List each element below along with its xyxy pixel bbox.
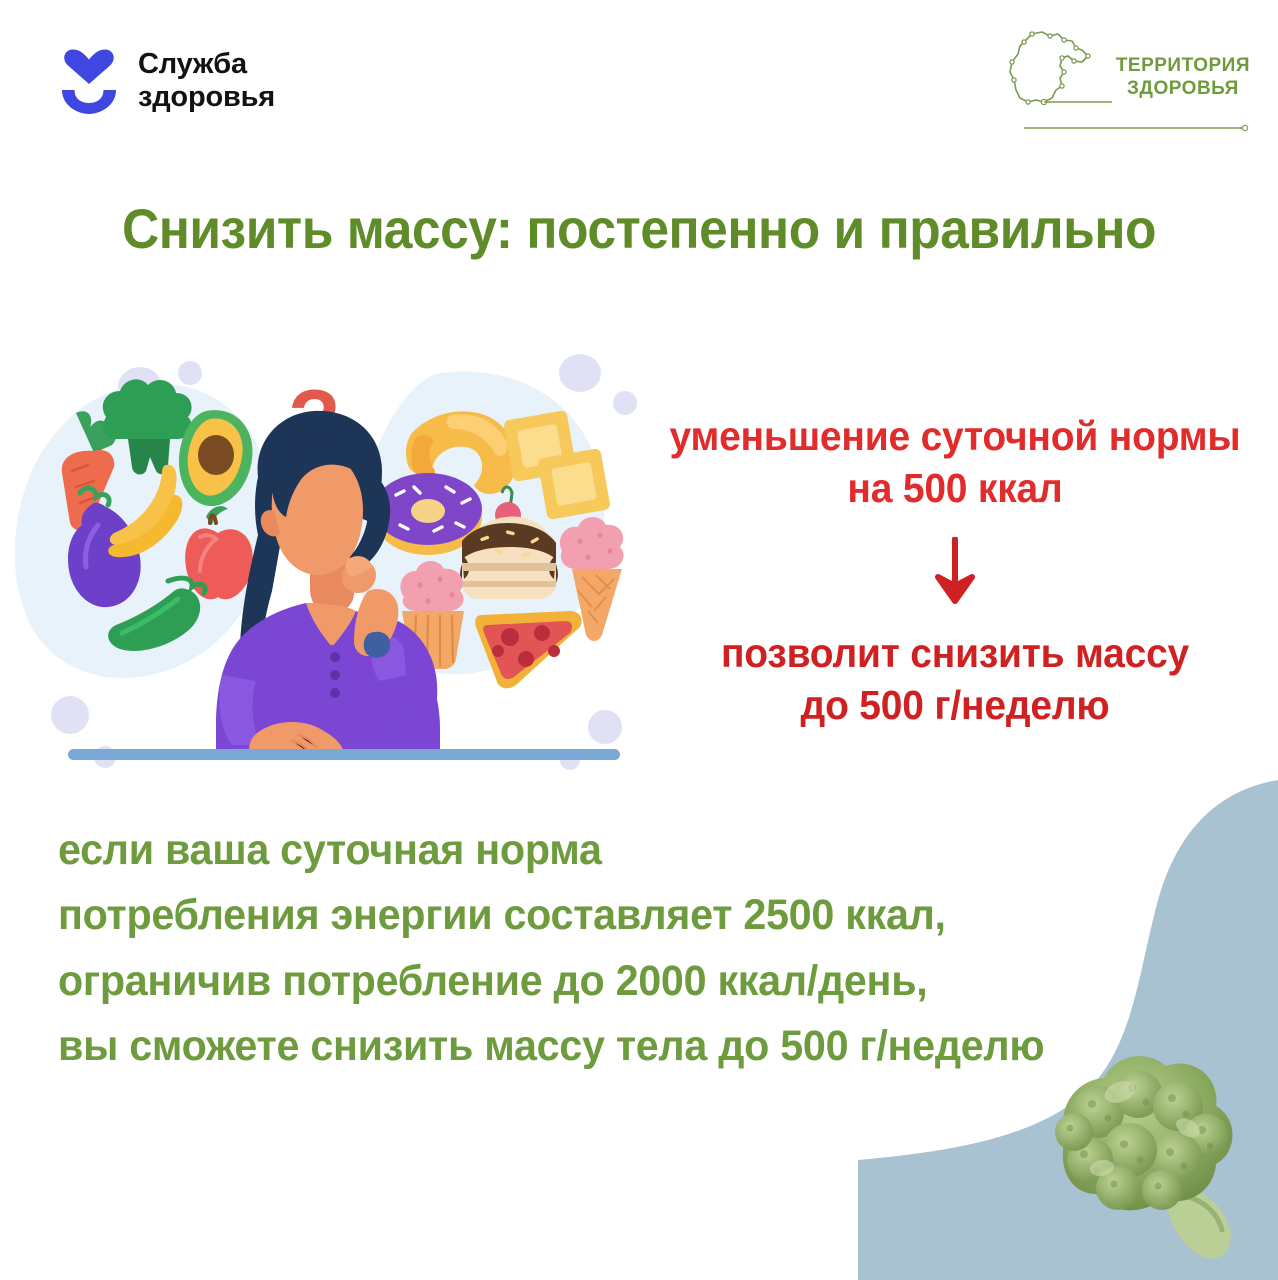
body-line-2: потребления энергии составляет 2500 ккал… — [58, 883, 1143, 948]
territory-wordmark: ТЕРРИТОРИЯ ЗДОРОВЬЯ — [1116, 54, 1250, 100]
table-line — [68, 749, 620, 760]
body-line-1: если ваша суточная норма — [58, 818, 1143, 883]
page-title: Снизить массу: постепенно и правильно — [51, 196, 1227, 261]
illustration: ? ? — [10, 345, 650, 775]
body-line-4: вы сможете снизить массу тела до 500 г/н… — [58, 1014, 1143, 1079]
pizza-slice-icon — [475, 611, 581, 688]
territory-map-icon — [1002, 28, 1112, 128]
healthy-food-cloud — [15, 379, 270, 678]
territory-baseline — [1024, 123, 1250, 133]
callout-line-2: на 500 ккал — [656, 462, 1255, 514]
territory-line-1: ТЕРРИТОРИЯ — [1116, 54, 1250, 77]
callout-line-1: уменьшение суточной нормы — [656, 410, 1255, 462]
sluzhba-zdorovya-logo[interactable]: Служба здоровья — [58, 48, 275, 114]
callout-line-3: позволит снизить массу — [656, 627, 1255, 679]
infographic-page: Служба здоровья — [0, 0, 1278, 1280]
callout-line-4: до 500 г/неделю — [656, 679, 1255, 731]
down-arrow-wrap — [640, 537, 1270, 611]
down-arrow-icon — [932, 537, 978, 611]
logo-line-2: здоровья — [138, 81, 275, 114]
body-paragraph: если ваша суточная норма потребления эне… — [58, 818, 1188, 1079]
logo-wordmark: Служба здоровья — [138, 48, 275, 114]
logo-line-1: Служба — [138, 48, 275, 81]
heart-smile-icon — [58, 48, 120, 114]
callout-block: уменьшение суточной нормы на 500 ккал по… — [640, 410, 1270, 732]
territoriya-zdorovya-logo[interactable]: ТЕРРИТОРИЯ ЗДОРОВЬЯ — [1002, 28, 1250, 128]
territory-line-2: ЗДОРОВЬЯ — [1116, 77, 1250, 100]
body-line-3: ограничив потребление до 2000 ккал/день, — [58, 949, 1143, 1014]
